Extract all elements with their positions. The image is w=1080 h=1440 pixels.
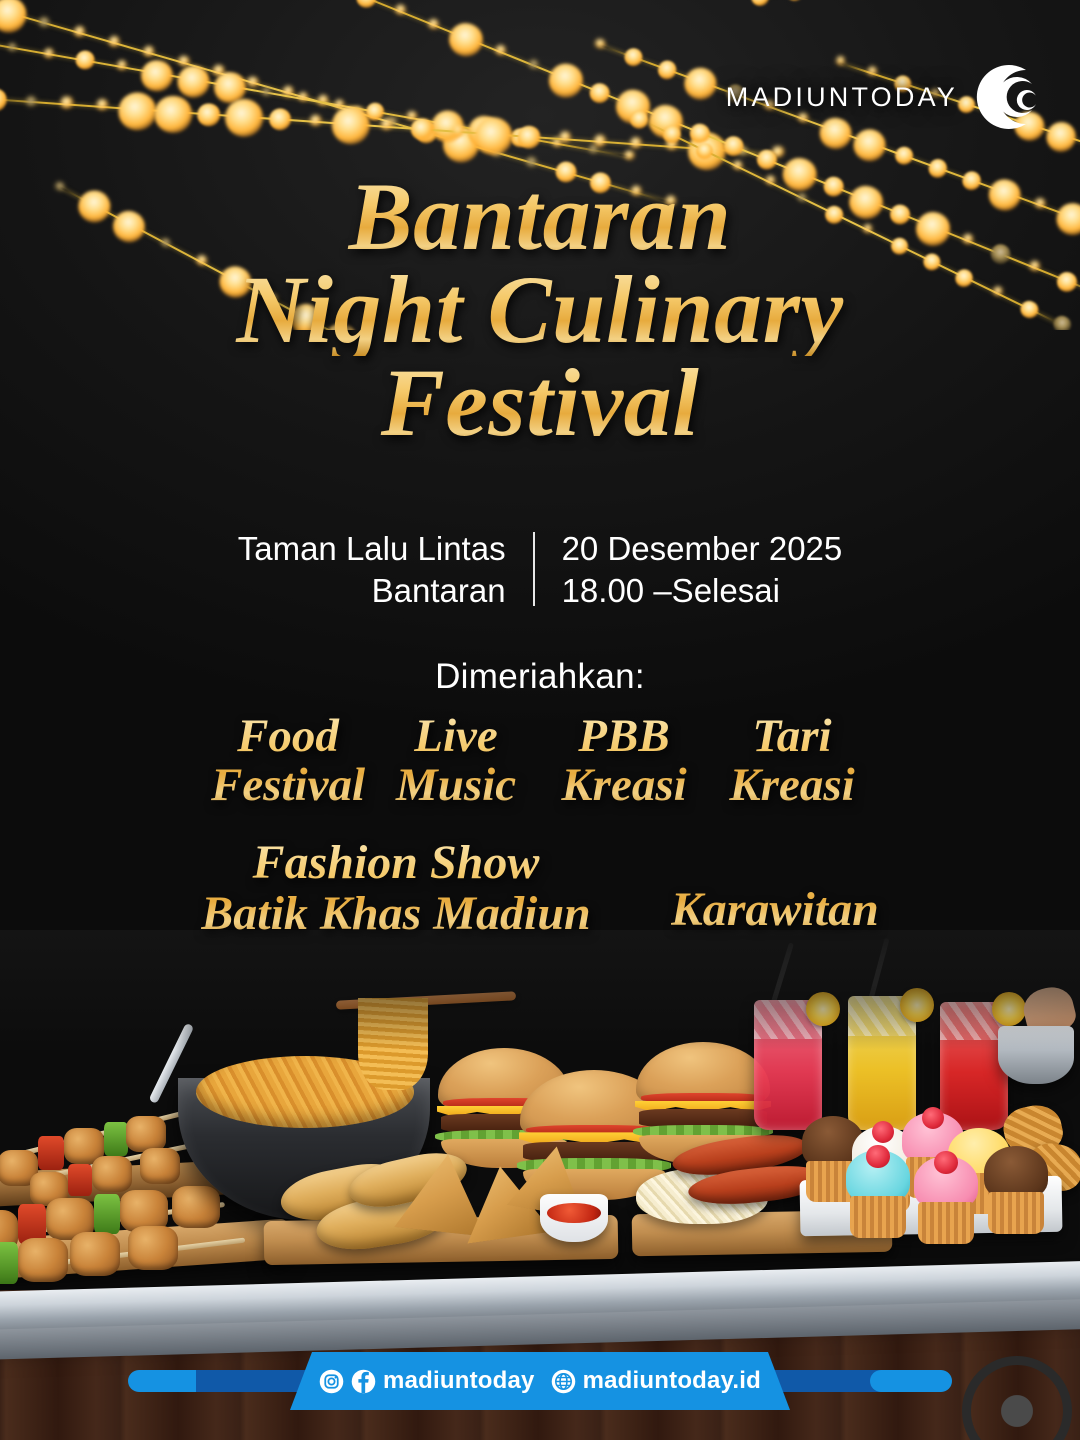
title-line-1: Bantaran — [0, 170, 1080, 263]
event-details: Taman Lalu Lintas Bantaran 20 Desember 2… — [0, 528, 1080, 612]
footer-center-panel: madiuntoday madiuntoday.id — [290, 1352, 790, 1410]
light-bulb — [527, 58, 540, 71]
poster-canvas: MADIUNTODAY Bantaran Night Culinary Fest… — [0, 0, 1080, 1440]
lifted-noodles — [358, 998, 428, 1090]
light-bulb — [38, 16, 51, 29]
light-bulb — [197, 103, 221, 127]
social-handle-group[interactable]: madiuntoday — [319, 1367, 535, 1395]
light-bulb — [268, 107, 292, 131]
light-bulb — [25, 95, 37, 107]
footer-contact-bar: madiuntoday madiuntoday.id — [0, 1352, 1080, 1410]
lineup-item-karawitan: Karawitan — [671, 841, 879, 936]
datetime-block: 20 Desember 2025 18.00 –Selesai — [535, 528, 843, 612]
light-bulb — [74, 50, 96, 72]
lemon-slice-1 — [806, 992, 840, 1026]
light-bulb — [680, 63, 720, 103]
light-bulb — [142, 45, 155, 58]
light-bulb — [96, 99, 108, 111]
sauce-cup — [540, 1194, 608, 1242]
light-bulb — [594, 135, 606, 147]
light-bulb — [381, 118, 393, 130]
brand-logo-wordmark: MADIUNTODAY — [726, 82, 958, 113]
metal-bowl — [998, 1026, 1074, 1084]
instagram-icon[interactable] — [319, 1369, 344, 1394]
light-bulb — [73, 25, 86, 38]
light-bulb — [310, 114, 322, 126]
title-line-2: Night Culinary — [0, 263, 1080, 356]
crescent-swoosh-icon — [964, 58, 1042, 136]
cupcake-blue — [846, 1150, 910, 1238]
light-bulb — [353, 0, 379, 11]
light-bulb — [43, 48, 54, 59]
event-time: 18.00 –Selesai — [562, 570, 843, 612]
light-bulb — [517, 125, 541, 149]
venue-block: Taman Lalu Lintas Bantaran — [238, 528, 533, 612]
light-bulb — [473, 116, 513, 156]
light-bulb — [784, 0, 806, 2]
cupcake-pink-2 — [914, 1156, 978, 1244]
page-title: Bantaran Night Culinary Festival — [0, 170, 1080, 449]
lineup-row-secondary: Fashion Show Batik Khas Madiun Karawitan — [0, 838, 1080, 940]
lemon-slice-3 — [992, 992, 1026, 1026]
light-bulb — [624, 149, 635, 160]
light-bulb — [587, 80, 613, 106]
lineup-item-tari-kreasi: Tari Kreasi — [708, 712, 876, 811]
light-bulb — [892, 144, 916, 168]
lineup-item-fashion-show: Fashion Show Batik Khas Madiun — [201, 838, 590, 940]
light-bulb — [655, 58, 679, 82]
light-bulb — [749, 0, 771, 8]
website-group[interactable]: madiuntoday.id — [551, 1367, 761, 1395]
facebook-icon[interactable] — [351, 1369, 376, 1394]
lineup-heading: Dimeriahkan: — [0, 657, 1080, 697]
globe-icon[interactable] — [551, 1369, 576, 1394]
lineup-row-primary: Food Festival Live Music PBB Kreasi Tari… — [0, 712, 1080, 811]
lineup-item-live-music: Live Music — [372, 712, 540, 811]
light-bulb — [1042, 118, 1079, 155]
light-bulb — [224, 98, 264, 138]
lineup-item-food-festival: Food Festival — [204, 712, 372, 811]
light-bulb — [7, 42, 18, 53]
cupcake-chocolate-2 — [984, 1146, 1048, 1234]
venue-line-2: Bantaran — [238, 570, 506, 612]
brand-logo: MADIUNTODAY — [726, 58, 1042, 136]
light-bulb — [139, 57, 175, 93]
footer-segment-right-outer — [870, 1370, 952, 1392]
light-bulb — [153, 94, 193, 134]
social-handle-text[interactable]: madiuntoday — [383, 1367, 535, 1395]
lineup-item-pbb-kreasi: PBB Kreasi — [540, 712, 708, 811]
light-bulb — [544, 59, 588, 103]
light-bulb — [108, 35, 121, 48]
venue-line-1: Taman Lalu Lintas — [238, 528, 506, 570]
light-bulb — [118, 91, 158, 131]
light-bulb — [444, 18, 488, 62]
event-date: 20 Desember 2025 — [562, 528, 843, 570]
light-bulb — [61, 96, 73, 108]
title-line-3: Festival — [0, 356, 1080, 449]
light-bulb — [621, 45, 645, 69]
light-bulb — [630, 137, 642, 149]
lemon-slice-2 — [900, 988, 934, 1022]
website-text[interactable]: madiuntoday.id — [583, 1367, 761, 1395]
light-bulb — [0, 88, 7, 112]
light-bulb — [247, 75, 260, 88]
